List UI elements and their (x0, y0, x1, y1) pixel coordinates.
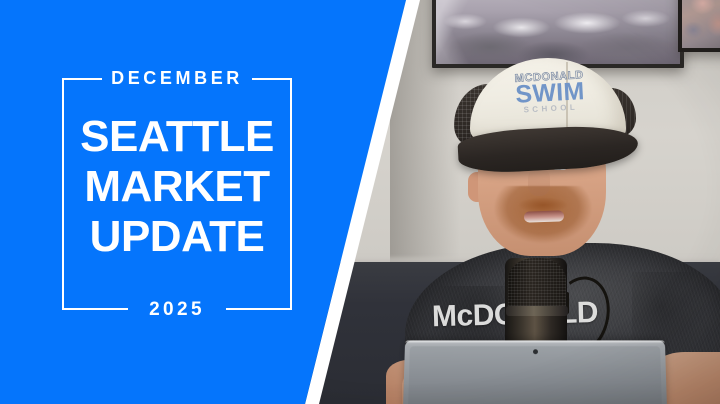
mouth (524, 210, 564, 222)
headline: SEATTLE MARKET UPDATE (52, 112, 302, 262)
laptop (403, 340, 667, 404)
headline-line-2: MARKET (52, 162, 302, 212)
laptop-top-edge (405, 340, 665, 343)
microphone-ring (506, 306, 568, 316)
trucker-hat: MCDONALD SWIM SCHOOL (452, 58, 644, 168)
laptop-webcam (533, 349, 538, 354)
headline-line-1: SEATTLE (52, 112, 302, 162)
video-thumbnail: McDONALD MCDONALD SWIM (0, 0, 720, 404)
laptop-screen (408, 346, 662, 404)
hat-logo: MCDONALD SWIM SCHOOL (497, 69, 603, 115)
microphone-grille (508, 258, 566, 312)
year-label: 2025 (62, 300, 292, 320)
headline-line-3: UPDATE (52, 212, 302, 262)
nose (528, 168, 550, 196)
kicker-month: DECEMBER (62, 68, 292, 88)
